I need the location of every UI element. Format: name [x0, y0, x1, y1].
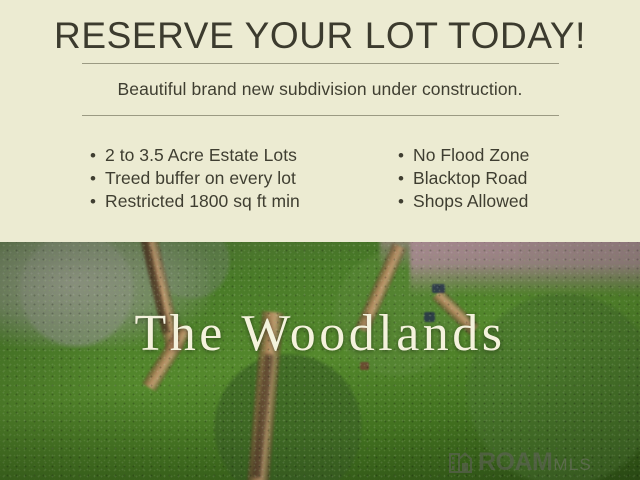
bullet-icon: •: [398, 167, 413, 190]
list-item: • Shops Allowed: [398, 190, 529, 213]
list-item: • Restricted 1800 sq ft min: [90, 190, 300, 213]
list-item: • Treed buffer on every lot: [90, 167, 300, 190]
bullet-icon: •: [398, 144, 413, 167]
listing-flyer-image: RESERVE YOUR LOT TODAY! Beautiful brand …: [0, 0, 640, 480]
watermark-brand: ROAM: [478, 449, 552, 475]
list-item-label: 2 to 3.5 Acre Estate Lots: [105, 144, 297, 167]
info-panel: RESERVE YOUR LOT TODAY! Beautiful brand …: [0, 0, 640, 242]
watermark: ROAM MLS: [448, 448, 592, 478]
list-item-label: Restricted 1800 sq ft min: [105, 190, 300, 213]
bullet-icon: •: [90, 144, 105, 167]
list-item-label: Blacktop Road: [413, 167, 527, 190]
page-title: RESERVE YOUR LOT TODAY!: [0, 14, 640, 58]
list-item: • No Flood Zone: [398, 144, 529, 167]
subtitle: Beautiful brand new subdivision under co…: [0, 76, 640, 102]
features-column-right: • No Flood Zone • Blacktop Road • Shops …: [398, 144, 529, 213]
list-item-label: No Flood Zone: [413, 144, 529, 167]
features-section: • 2 to 3.5 Acre Estate Lots • Treed buff…: [0, 144, 640, 224]
bullet-icon: •: [90, 167, 105, 190]
list-item: • Blacktop Road: [398, 167, 529, 190]
watermark-suffix: MLS: [553, 452, 592, 478]
features-column-left: • 2 to 3.5 Acre Estate Lots • Treed buff…: [90, 144, 300, 213]
list-item-label: Treed buffer on every lot: [105, 167, 296, 190]
divider-top: [82, 63, 559, 64]
list-item: • 2 to 3.5 Acre Estate Lots: [90, 144, 300, 167]
house-logo-icon: [448, 450, 474, 476]
bullet-icon: •: [90, 190, 105, 213]
bullet-icon: •: [398, 190, 413, 213]
estate-name-overlay: The Woodlands: [0, 303, 640, 365]
list-item-label: Shops Allowed: [413, 190, 528, 213]
divider-bottom: [82, 115, 559, 116]
watermark-text: ROAM MLS: [478, 449, 592, 478]
